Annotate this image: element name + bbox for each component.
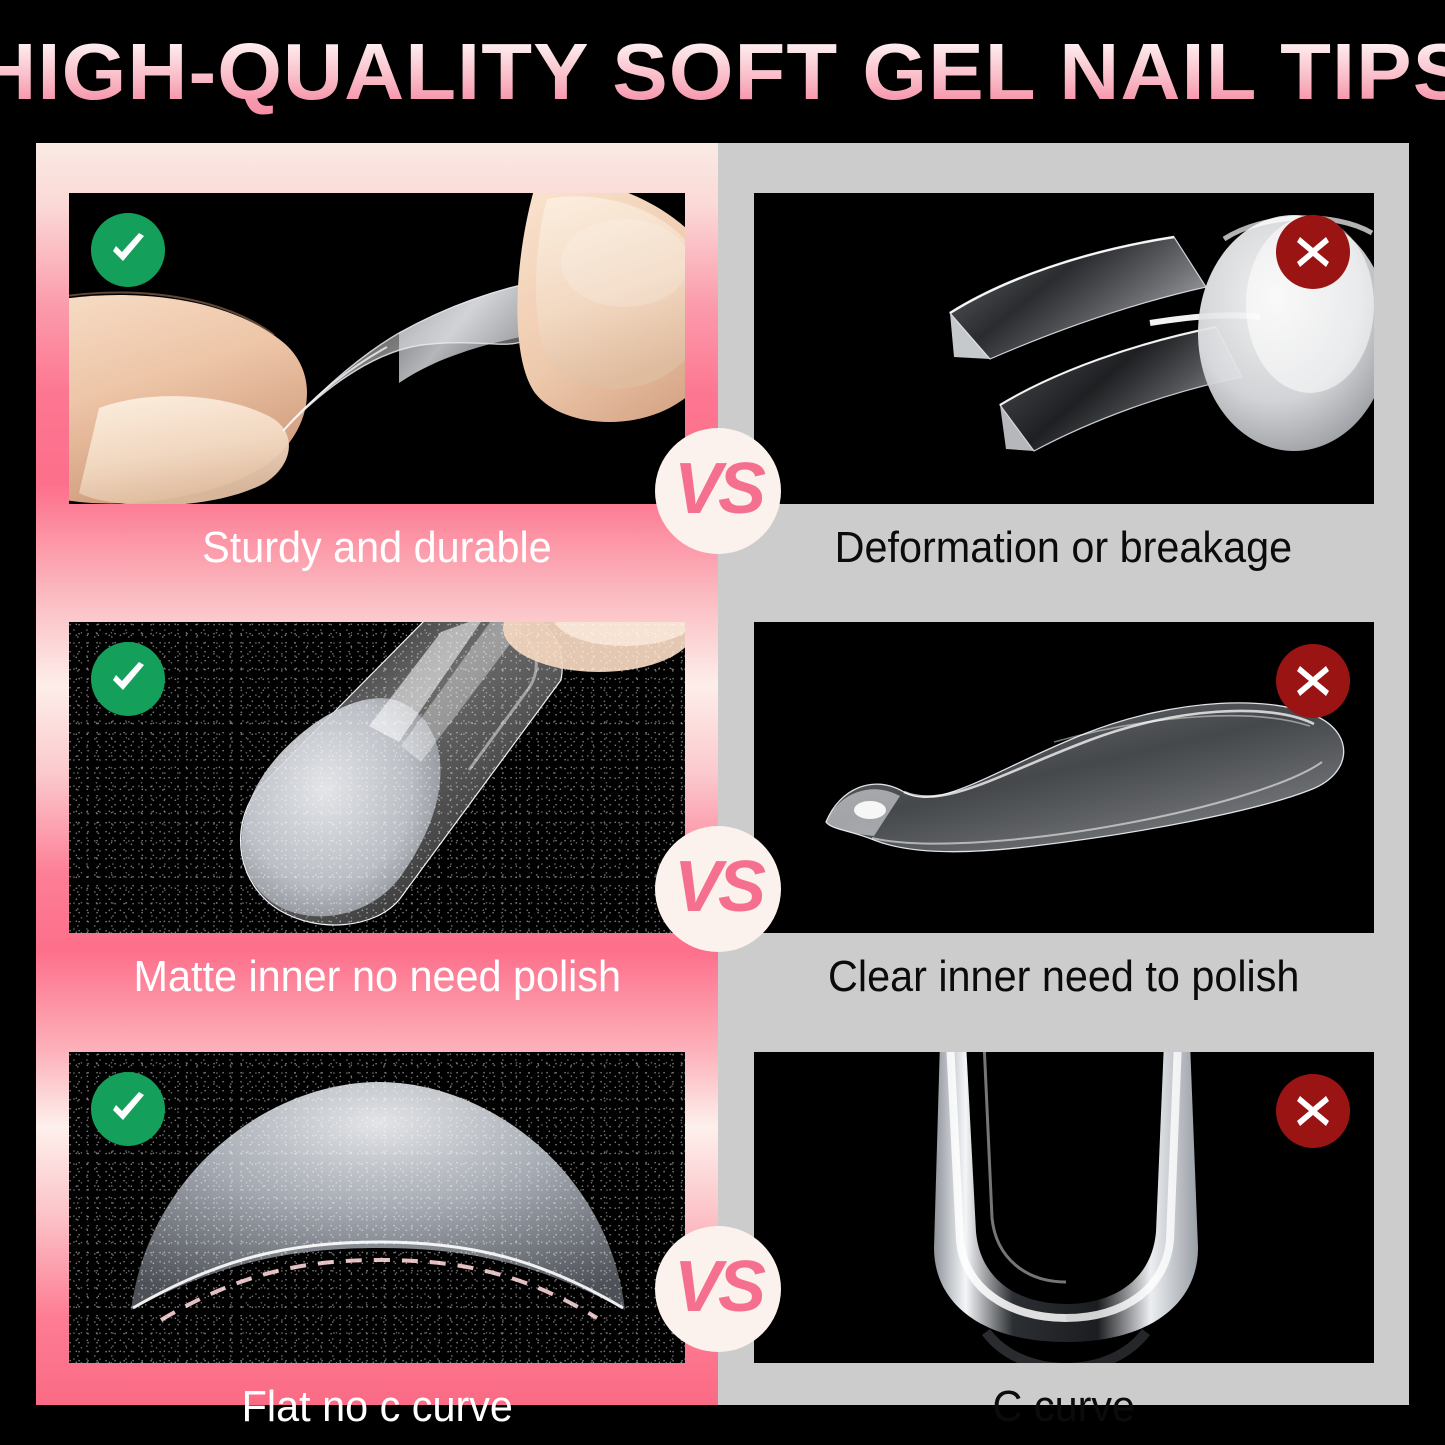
vs-label: VS (674, 1251, 762, 1323)
vs-badge-row-2: VS (655, 826, 781, 952)
caption-bad-0: Deformation or breakage (835, 524, 1293, 572)
photo-matte-inner-nail-tip-closeup (69, 622, 685, 933)
caption-good-1: Matte inner no need polish (133, 953, 620, 1001)
caption-good-0: Sturdy and durable (202, 524, 552, 572)
bad-row-c-curve: C curve (718, 1002, 1409, 1431)
caption-bad-1: Clear inner need to polish (828, 953, 1299, 1001)
x-icon (1276, 644, 1350, 718)
caption-bad-2: C curve (992, 1383, 1134, 1431)
check-icon (91, 213, 165, 287)
bad-column-panel: Deformation or breakage (718, 143, 1409, 1405)
good-row-flat: Flat no c curve (36, 1002, 718, 1431)
check-icon (91, 642, 165, 716)
x-icon (1276, 1074, 1350, 1148)
x-icon (1276, 215, 1350, 289)
caption-good-2: Flat no c curve (241, 1383, 512, 1431)
good-row-matte: Matte inner no need polish (36, 572, 718, 1001)
product-comparison-infographic: HIGH-QUALITY SOFT GEL NAIL TIPS (0, 0, 1445, 1445)
bad-row-clear-inner: Clear inner need to polish (718, 572, 1409, 1001)
photo-broken-cracked-nail-tips (754, 193, 1374, 504)
good-column-panel: Sturdy and durable (36, 143, 718, 1405)
vs-badge-row-3: VS (655, 1226, 781, 1352)
title-bar: HIGH-QUALITY SOFT GEL NAIL TIPS (0, 0, 1445, 143)
bad-row-deformation: Deformation or breakage (718, 143, 1409, 572)
photo-c-curve-nail-tip-endon (754, 1052, 1374, 1363)
photo-fingers-bending-clear-soft-gel-tip (69, 193, 685, 504)
good-row-sturdy: Sturdy and durable (36, 143, 718, 572)
vs-label: VS (674, 453, 762, 525)
check-icon (91, 1072, 165, 1146)
photo-clear-inner-nail-tip-sideview (754, 622, 1374, 933)
photo-flat-nail-tip-dome-with-dashed-line (69, 1052, 685, 1363)
comparison-panels: Sturdy and durable (36, 143, 1409, 1405)
vs-label: VS (674, 851, 762, 923)
page-title: HIGH-QUALITY SOFT GEL NAIL TIPS (0, 26, 1445, 118)
vs-badge-row-1: VS (655, 428, 781, 554)
